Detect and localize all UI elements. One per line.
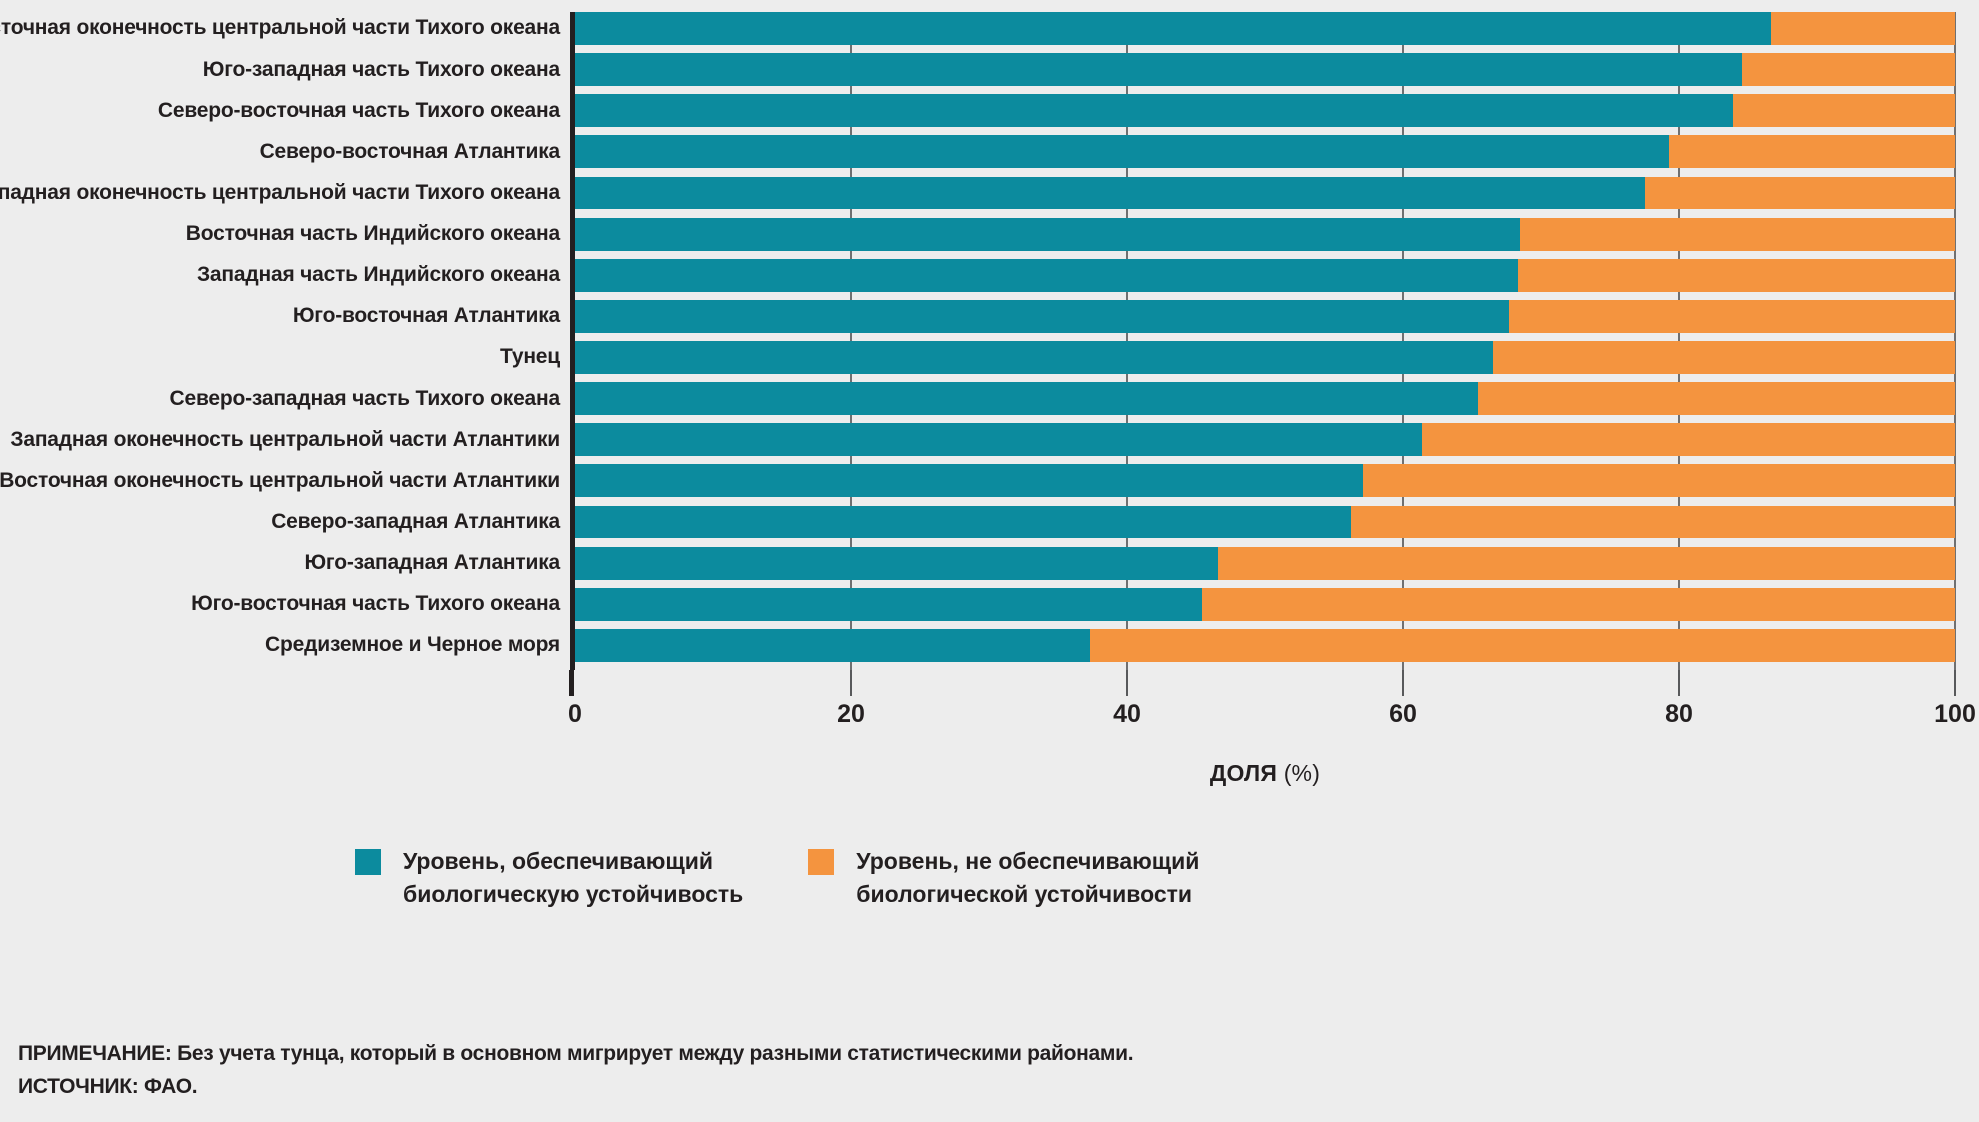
chart-footnotes: ПРИМЕЧАНИЕ: Без учета тунца, который в о… <box>18 1038 1958 1103</box>
x-axis-tick <box>1678 670 1680 696</box>
bar-row <box>575 547 1955 580</box>
bar-row <box>575 12 1955 45</box>
bar-segment-sustainable <box>575 423 1422 456</box>
bar-segment-sustainable <box>575 547 1218 580</box>
bar-segment-unsustainable <box>1478 382 1955 415</box>
bar-segment-sustainable <box>575 135 1669 168</box>
legend-item[interactable]: Уровень, не обеспечивающий биологической… <box>808 845 1199 912</box>
y-axis-label: Северо-западная часть Тихого океана <box>0 382 560 415</box>
bar-row <box>575 506 1955 539</box>
x-axis-tick-label: 20 <box>837 700 865 729</box>
x-axis-tick <box>1954 670 1956 696</box>
bar-segment-unsustainable <box>1520 218 1955 251</box>
bar-row <box>575 135 1955 168</box>
bar-row <box>575 423 1955 456</box>
bar-segment-unsustainable <box>1669 135 1955 168</box>
bar-segment-unsustainable <box>1090 629 1955 662</box>
y-axis-label: Юго-западная часть Тихого океана <box>0 53 560 86</box>
x-axis-tick <box>569 670 574 696</box>
bar-segment-unsustainable <box>1509 300 1955 333</box>
bar-segment-unsustainable <box>1771 12 1955 45</box>
bar-segment-sustainable <box>575 12 1771 45</box>
bar-segment-unsustainable <box>1742 53 1955 86</box>
bar-segment-unsustainable <box>1218 547 1955 580</box>
bar-segment-unsustainable <box>1422 423 1955 456</box>
bar-row <box>575 588 1955 621</box>
y-axis-label: Северо-восточная часть Тихого океана <box>0 94 560 127</box>
y-axis-category-labels: Восточная оконечность центральной части … <box>0 12 560 670</box>
bar-row <box>575 382 1955 415</box>
legend-label: Уровень, обеспечивающий биологическую ус… <box>403 845 743 912</box>
x-axis-title-main: ДОЛЯ <box>1210 760 1277 786</box>
bar-row <box>575 94 1955 127</box>
x-axis-tick <box>1126 670 1128 696</box>
y-axis-label: Западная часть Индийского океана <box>0 259 560 292</box>
y-axis-label: Тунец <box>0 341 560 374</box>
y-axis-label: Северо-западная Атлантика <box>0 506 560 539</box>
bar-segment-sustainable <box>575 588 1202 621</box>
bar-row <box>575 341 1955 374</box>
x-axis-tick-label: 100 <box>1934 700 1976 729</box>
bar-segment-sustainable <box>575 506 1351 539</box>
x-axis-tick-label: 0 <box>568 700 582 729</box>
bar-segment-unsustainable <box>1351 506 1955 539</box>
bar-segment-unsustainable <box>1645 177 1956 210</box>
plot-area <box>575 12 1955 670</box>
bar-segment-sustainable <box>575 341 1493 374</box>
x-axis-tick-label: 40 <box>1113 700 1141 729</box>
bar-row <box>575 53 1955 86</box>
x-axis-ticks <box>575 670 1955 696</box>
bar-segment-sustainable <box>575 382 1478 415</box>
x-axis-tick <box>850 670 852 696</box>
bar-segment-sustainable <box>575 177 1645 210</box>
y-axis-label: Северо-восточная Атлантика <box>0 135 560 168</box>
chart-legend: Уровень, обеспечивающий биологическую ус… <box>355 845 1199 912</box>
y-axis-label: Юго-восточная Атлантика <box>0 300 560 333</box>
bar-segment-sustainable <box>575 53 1742 86</box>
bar-row <box>575 629 1955 662</box>
x-axis-title-unit: (%) <box>1284 760 1320 786</box>
legend-swatch-icon <box>355 849 381 875</box>
bar-segment-unsustainable <box>1363 464 1955 497</box>
bar-segment-sustainable <box>575 94 1733 127</box>
bar-row <box>575 259 1955 292</box>
bar-segment-sustainable <box>575 259 1518 292</box>
bar-segment-sustainable <box>575 464 1363 497</box>
y-axis-label: Западная оконечность центральной части А… <box>0 423 560 456</box>
legend-label: Уровень, не обеспечивающий биологической… <box>856 845 1199 912</box>
y-axis-label: Средиземное и Черное моря <box>0 629 560 662</box>
y-axis-label: Западная оконечность центральной части Т… <box>0 177 560 210</box>
bar-segment-sustainable <box>575 218 1520 251</box>
x-axis-tick-label: 80 <box>1665 700 1693 729</box>
bar-row <box>575 218 1955 251</box>
x-axis-tick-label: 60 <box>1389 700 1417 729</box>
y-axis-label: Восточная оконечность центральной части … <box>0 464 560 497</box>
y-axis-label: Восточная оконечность центральной части … <box>0 12 560 45</box>
bar-segment-sustainable <box>575 629 1090 662</box>
footnote-note: ПРИМЕЧАНИЕ: Без учета тунца, который в о… <box>18 1038 1958 1071</box>
y-axis-label: Юго-западная Атлантика <box>0 547 560 580</box>
bar-segment-unsustainable <box>1518 259 1955 292</box>
bar-segment-unsustainable <box>1493 341 1955 374</box>
y-axis-label: Юго-восточная часть Тихого океана <box>0 588 560 621</box>
x-axis-tick <box>1402 670 1404 696</box>
footnote-source: ИСТОЧНИК: ФАО. <box>18 1071 1958 1104</box>
bar-row <box>575 464 1955 497</box>
bar-rows <box>575 12 1955 670</box>
bar-segment-unsustainable <box>1202 588 1955 621</box>
legend-item[interactable]: Уровень, обеспечивающий биологическую ус… <box>355 845 743 912</box>
y-axis-label: Восточная часть Индийского океана <box>0 218 560 251</box>
bar-segment-unsustainable <box>1733 94 1955 127</box>
bar-row <box>575 300 1955 333</box>
x-axis-title: ДОЛЯ (%) <box>575 760 1955 787</box>
bar-segment-sustainable <box>575 300 1509 333</box>
stacked-bar-chart: Восточная оконечность центральной части … <box>0 0 1979 790</box>
x-axis-tick-labels: 020406080100 <box>575 700 1955 734</box>
bar-row <box>575 177 1955 210</box>
legend-swatch-icon <box>808 849 834 875</box>
